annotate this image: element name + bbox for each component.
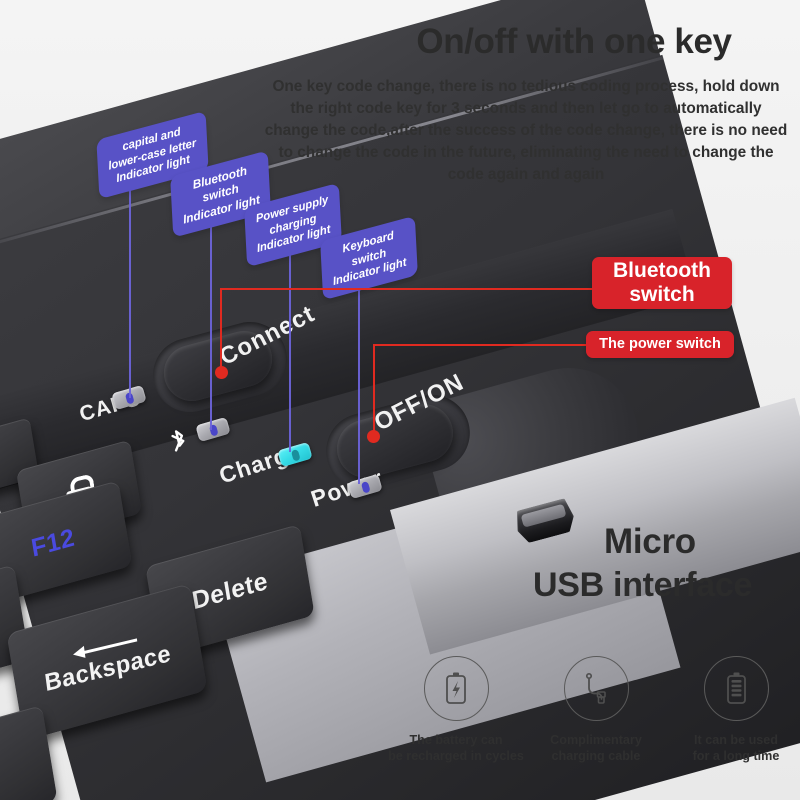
feature-item-long-life: It can be used for a long time <box>672 656 800 765</box>
infographic-canvas: F12 Delete Backspace Connect OFF/ON CAPS… <box>0 0 800 800</box>
keycap-f12-label: F12 <box>29 523 77 564</box>
leader-line-bluetooth <box>210 216 212 430</box>
leader-line-power <box>358 280 360 484</box>
feature-item-rechargeable: The battery can be recharged in cycles <box>392 656 520 765</box>
backslash-pipe-icon <box>0 748 9 791</box>
usb-cable-icon <box>564 656 629 721</box>
feature-caption-line1: The battery can <box>409 733 502 747</box>
red-marker-power-switch <box>367 430 380 443</box>
feature-caption-line2: for a long time <box>693 749 780 763</box>
feature-caption: The battery can be recharged in cycles <box>388 732 524 765</box>
feature-list: The battery can be recharged in cycles C… <box>392 656 800 765</box>
callout-the-power-switch: The power switch <box>586 331 734 358</box>
feature-caption-line1: It can be used <box>694 733 778 747</box>
red-leader-vertical-power <box>373 344 375 436</box>
page-subtitle: One key code change, there is no tedious… <box>262 76 790 185</box>
red-leader-horizontal-bluetooth <box>221 288 596 290</box>
usb-word: USB <box>533 566 604 604</box>
feature-caption: It can be used for a long time <box>693 732 780 765</box>
page-title: On/off with one key <box>358 24 790 61</box>
feature-caption-line2: be recharged in cycles <box>388 749 524 763</box>
keycap-delete-label: Delete <box>190 566 270 616</box>
callout-line-1: Bluetooth <box>613 259 711 282</box>
feature-caption: Complimentary charging cable <box>550 732 642 765</box>
leader-line-caps <box>129 180 131 398</box>
red-leader-horizontal-power <box>374 344 590 346</box>
feature-caption-line1: Complimentary <box>550 733 642 747</box>
red-leader-vertical-bluetooth <box>220 288 222 372</box>
red-marker-connect-button <box>215 366 228 379</box>
callout-bluetooth-switch: Bluetooth switch <box>592 257 732 309</box>
micro-usb-heading-line1: Micro <box>604 522 696 562</box>
interface-word: interface <box>613 566 752 604</box>
leader-line-charge <box>289 248 291 452</box>
battery-full-icon <box>704 656 769 721</box>
micro-usb-inner-tongue <box>521 504 567 528</box>
callout-line-2: switch <box>629 283 694 306</box>
feature-item-cable: Complimentary charging cable <box>532 656 660 765</box>
micro-usb-heading-line2: USB interface <box>533 566 752 605</box>
feature-caption-line2: charging cable <box>552 749 641 763</box>
battery-charging-icon <box>424 656 489 721</box>
